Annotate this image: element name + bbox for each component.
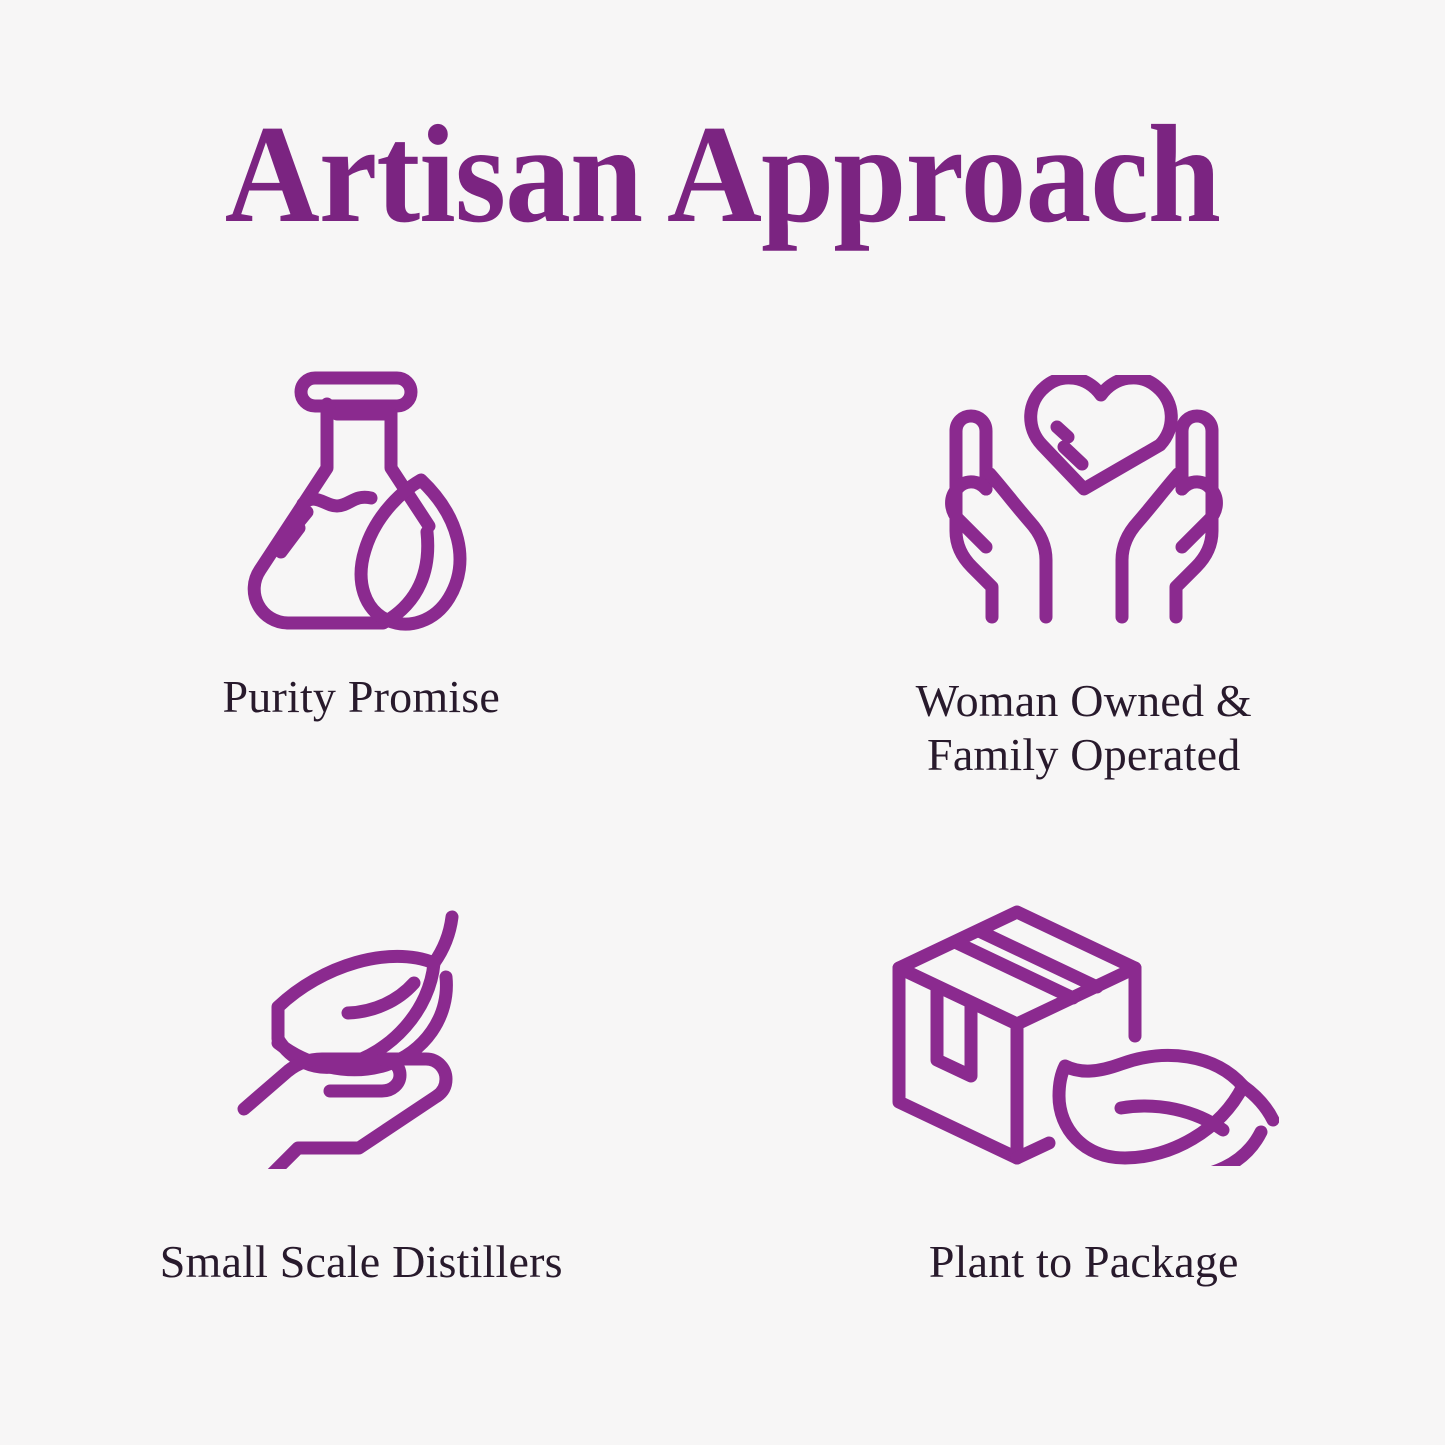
hands-holding-heart-icon: [934, 356, 1234, 656]
feature-label: Purity Promise: [222, 670, 500, 724]
feature-card-small-scale-distillers: Small Scale Distillers: [0, 855, 723, 1380]
feature-label: Plant to Package: [929, 1235, 1239, 1289]
leaf-in-hand-icon: [230, 889, 492, 1189]
feature-label: Small Scale Distillers: [160, 1235, 563, 1289]
flask-leaf-icon: [231, 348, 491, 648]
page-title-container: Artisan Approach: [0, 104, 1445, 247]
feature-card-purity-promise: Purity Promise: [0, 330, 723, 855]
feature-label: Woman Owned & Family Operated: [916, 674, 1252, 783]
feature-grid: Purity Promise: [0, 330, 1445, 1380]
feature-card-plant-to-package: Plant to Package: [723, 855, 1445, 1380]
artisan-approach-graphic: Artisan Approach: [0, 0, 1445, 1445]
page-title: Artisan Approach: [225, 104, 1220, 247]
feature-card-woman-owned: Woman Owned & Family Operated: [723, 330, 1445, 855]
box-leaf-icon: [889, 881, 1279, 1181]
